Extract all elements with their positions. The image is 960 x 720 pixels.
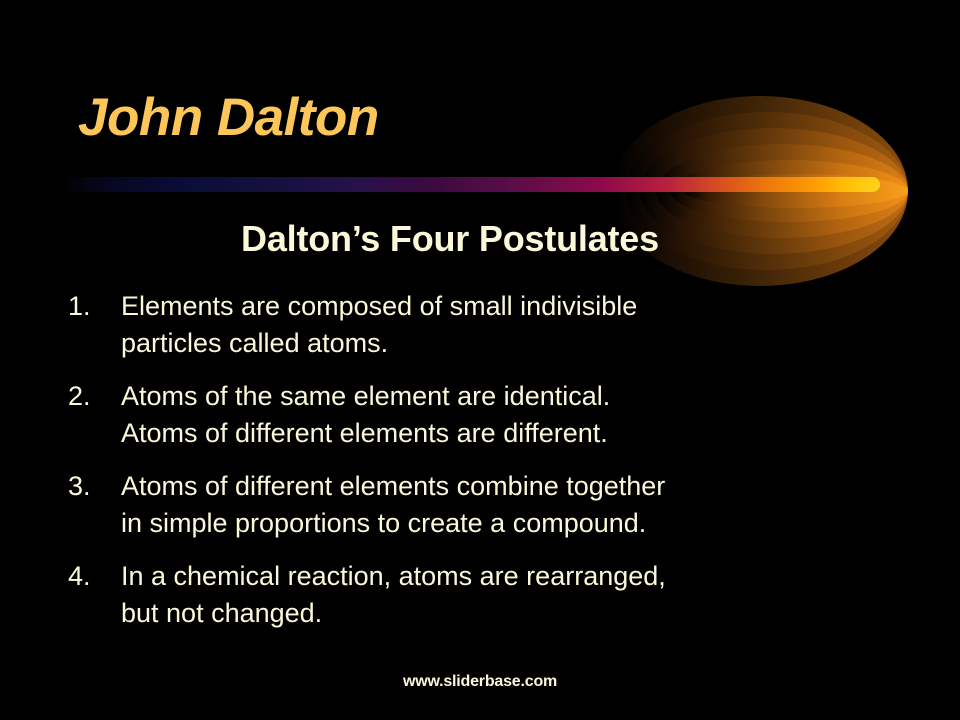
list-item-text: Atoms of different elements combine toge… xyxy=(121,468,908,542)
accent-gradient-bar xyxy=(58,177,880,192)
postulates-list: 1. Elements are composed of small indivi… xyxy=(68,288,908,648)
page-title: John Dalton xyxy=(78,87,379,148)
list-item: 4. In a chemical reaction, atoms are rea… xyxy=(68,558,908,632)
list-item: 1. Elements are composed of small indivi… xyxy=(68,288,908,362)
list-item-text: Elements are composed of small indivisib… xyxy=(121,288,908,362)
source-watermark: www.sliderbase.com xyxy=(0,673,960,691)
list-item-text: Atoms of the same element are identical.… xyxy=(121,378,908,452)
list-item-text: In a chemical reaction, atoms are rearra… xyxy=(121,558,908,632)
list-item: 3. Atoms of different elements combine t… xyxy=(68,468,908,542)
list-item-number: 2. xyxy=(68,378,121,415)
subtitle-heading: Dalton’s Four Postulates xyxy=(0,218,900,260)
comet-step-upper xyxy=(608,130,614,160)
list-item: 2. Atoms of the same element are identic… xyxy=(68,378,908,452)
slide-canvas: John Dalton Dalton’s Four Postulates 1. … xyxy=(0,0,960,720)
comet-step-top xyxy=(608,96,620,130)
list-item-number: 1. xyxy=(68,288,121,325)
list-item-number: 3. xyxy=(68,468,121,505)
list-item-number: 4. xyxy=(68,558,121,595)
